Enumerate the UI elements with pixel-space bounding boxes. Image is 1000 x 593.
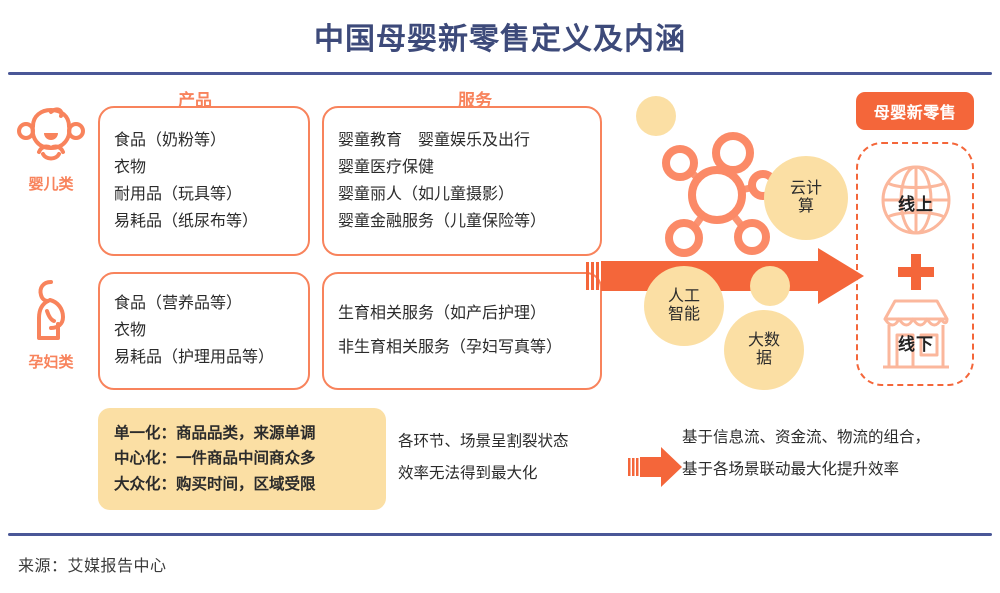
list-item: 婴童医疗保健 [338, 160, 586, 176]
list-item: 易耗品（护理用品等） [114, 350, 294, 366]
list-item: 各环节、场景呈割裂状态 [398, 434, 613, 450]
list-item: 生育相关服务（如产后护理） [338, 306, 586, 322]
tech-circle-cloud: 云计算 [764, 156, 848, 240]
tech-circle-label: 大数据 [743, 332, 785, 369]
big-right-arrow-icon [586, 248, 866, 304]
bottom-before-text: 各环节、场景呈割裂状态 效率无法得到最大化 [398, 434, 613, 481]
list-item: 大众化：购买时间，区域受限 [114, 477, 370, 493]
category-label-mom: 孕妇类 [6, 351, 96, 372]
tech-circle-label: 云计算 [785, 180, 827, 217]
baby-face-icon [13, 104, 89, 166]
list-item: 中心化：一件商品中间商众多 [114, 451, 370, 467]
list-item: 易耗品（纸尿布等） [114, 214, 294, 230]
page-title: 中国母婴新零售定义及内涵 [0, 14, 1000, 58]
list-item: 婴童金融服务（儿童保险等） [338, 214, 586, 230]
infographic-root: 中国母婴新零售定义及内涵 产品 服务 婴儿类 [0, 0, 1000, 593]
pregnant-woman-icon [18, 278, 84, 344]
offline-label: 线下 [866, 330, 966, 355]
tech-circle-label: 人工智能 [663, 288, 705, 325]
box-products-mom: 食品（营养品等） 衣物 易耗品（护理用品等） [98, 272, 310, 390]
right-arrow-icon [628, 443, 684, 491]
list-item: 基于信息流、资金流、物流的组合， [682, 430, 992, 446]
bottom-after-text: 基于信息流、资金流、物流的组合， 基于各场景联动最大化提升效率 [682, 430, 992, 477]
list-item: 衣物 [114, 160, 294, 176]
list-item: 非生育相关服务（孕妇写真等） [338, 340, 586, 356]
tech-circle-bigdata: 大数据 [724, 310, 804, 390]
status-badge: 母婴新零售 [856, 92, 974, 130]
category-baby: 婴儿类 [6, 104, 96, 194]
summary-box-traditional: 单一化：商品品类，来源单调 中心化：一件商品中间商众多 大众化：购买时间，区域受… [98, 408, 386, 510]
list-item: 婴童丽人（如儿童摄影） [338, 187, 586, 203]
tech-circle-ai: 人工智能 [644, 266, 724, 346]
list-item: 单一化：商品品类，来源单调 [114, 426, 370, 442]
list-item: 婴童教育 婴童娱乐及出行 [338, 133, 586, 149]
plus-icon [896, 252, 936, 292]
category-label-baby: 婴儿类 [6, 173, 96, 194]
list-item: 食品（营养品等） [114, 296, 294, 312]
box-services-mom: 生育相关服务（如产后护理） 非生育相关服务（孕妇写真等） [322, 272, 602, 390]
list-item: 衣物 [114, 323, 294, 339]
decorative-circle-2 [750, 266, 790, 306]
category-mom: 孕妇类 [6, 278, 96, 372]
list-item: 基于各场景联动最大化提升效率 [682, 462, 992, 478]
list-item: 效率无法得到最大化 [398, 466, 613, 482]
list-item: 食品（奶粉等） [114, 133, 294, 149]
decorative-circle-1 [636, 96, 676, 136]
box-services-baby: 婴童教育 婴童娱乐及出行 婴童医疗保健 婴童丽人（如儿童摄影） 婴童金融服务（儿… [322, 106, 602, 256]
online-label: 线上 [866, 190, 966, 215]
footer-divider [8, 533, 992, 536]
box-products-baby: 食品（奶粉等） 衣物 耐用品（玩具等） 易耗品（纸尿布等） [98, 106, 310, 256]
list-item: 耐用品（玩具等） [114, 187, 294, 203]
title-divider [8, 72, 992, 75]
source-text: 来源：艾媒报告中心 [18, 552, 167, 576]
